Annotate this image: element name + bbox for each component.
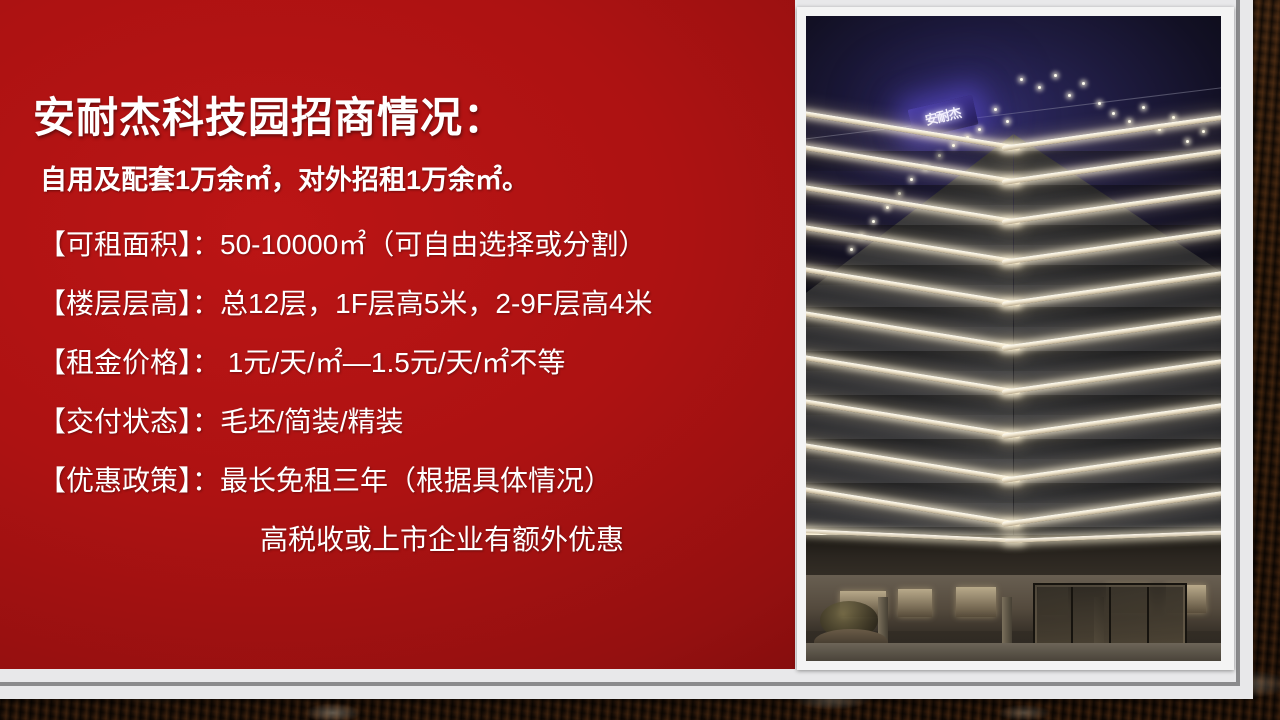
list-item: 高税收或上市企业有额外优惠	[38, 510, 788, 569]
point-light	[1054, 74, 1057, 77]
lobby-window	[956, 587, 996, 617]
presentation-slide: 安耐杰科技园招商情况： 自用及配套1万余㎡，对外招租1万余㎡。 【可租面积】：5…	[0, 0, 1280, 720]
point-light	[1112, 112, 1115, 115]
page-subtitle: 自用及配套1万余㎡，对外招租1万余㎡。	[40, 158, 529, 197]
detail-list: 【可租面积】：50-10000㎡（可自由选择或分割） 【楼层层高】：总12层，1…	[38, 215, 788, 569]
point-light	[1158, 128, 1161, 131]
page-title: 安耐杰科技园招商情况：	[33, 84, 506, 145]
point-light	[1142, 106, 1145, 109]
point-light	[1020, 78, 1023, 81]
ground-floor-lobby	[806, 535, 1221, 661]
point-light	[1068, 94, 1071, 97]
list-item: 【优惠政策】：最长免租三年（根据具体情况）	[38, 451, 788, 510]
building-night-photo: 安耐杰	[806, 16, 1221, 661]
lobby-canopy-light	[806, 539, 1221, 545]
point-light	[1038, 86, 1041, 89]
list-item: 【可租面积】：50-10000㎡（可自由选择或分割）	[38, 215, 788, 274]
list-item: 【楼层层高】：总12层，1F层高5米，2-9F层高4米	[38, 274, 788, 333]
lobby-ground	[806, 643, 1221, 661]
point-light	[1082, 82, 1085, 85]
point-light	[1098, 102, 1101, 105]
lobby-window	[898, 589, 932, 617]
red-content-panel: 安耐杰科技园招商情况： 自用及配套1万余㎡，对外招租1万余㎡。 【可租面积】：5…	[0, 0, 795, 669]
photo-frame: 安耐杰	[797, 7, 1234, 670]
list-item: 【租金价格】： 1元/天/㎡—1.5元/天/㎡不等	[38, 333, 788, 392]
point-light	[1006, 120, 1009, 123]
point-light	[1172, 116, 1175, 119]
list-item: 【交付状态】：毛坯/简装/精装	[38, 392, 788, 451]
point-light	[978, 128, 981, 131]
point-light	[1128, 120, 1131, 123]
point-light	[1202, 130, 1205, 133]
point-light	[994, 108, 997, 111]
